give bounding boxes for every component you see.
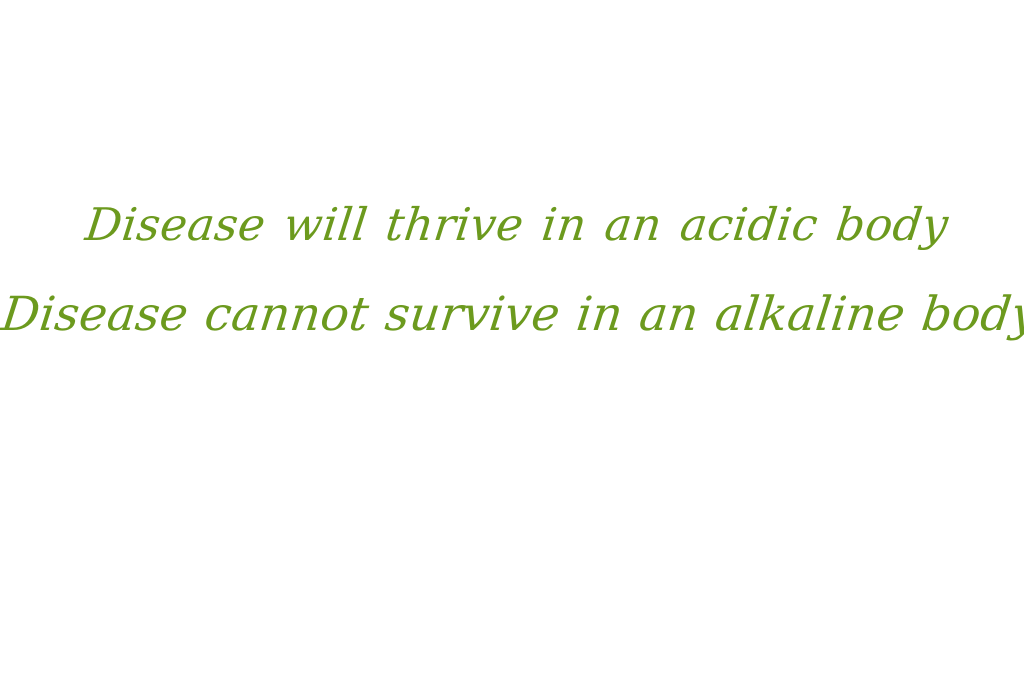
- quote-line-2: Disease cannot survive in an alkaline bo…: [0, 286, 1024, 344]
- quote-line-1: Disease will thrive in an acidic body: [6, 196, 1024, 254]
- quote-text-block: Disease will thrive in an acidic body Di…: [0, 196, 1024, 344]
- quote-card-canvas: Disease will thrive in an acidic body Di…: [0, 0, 1024, 683]
